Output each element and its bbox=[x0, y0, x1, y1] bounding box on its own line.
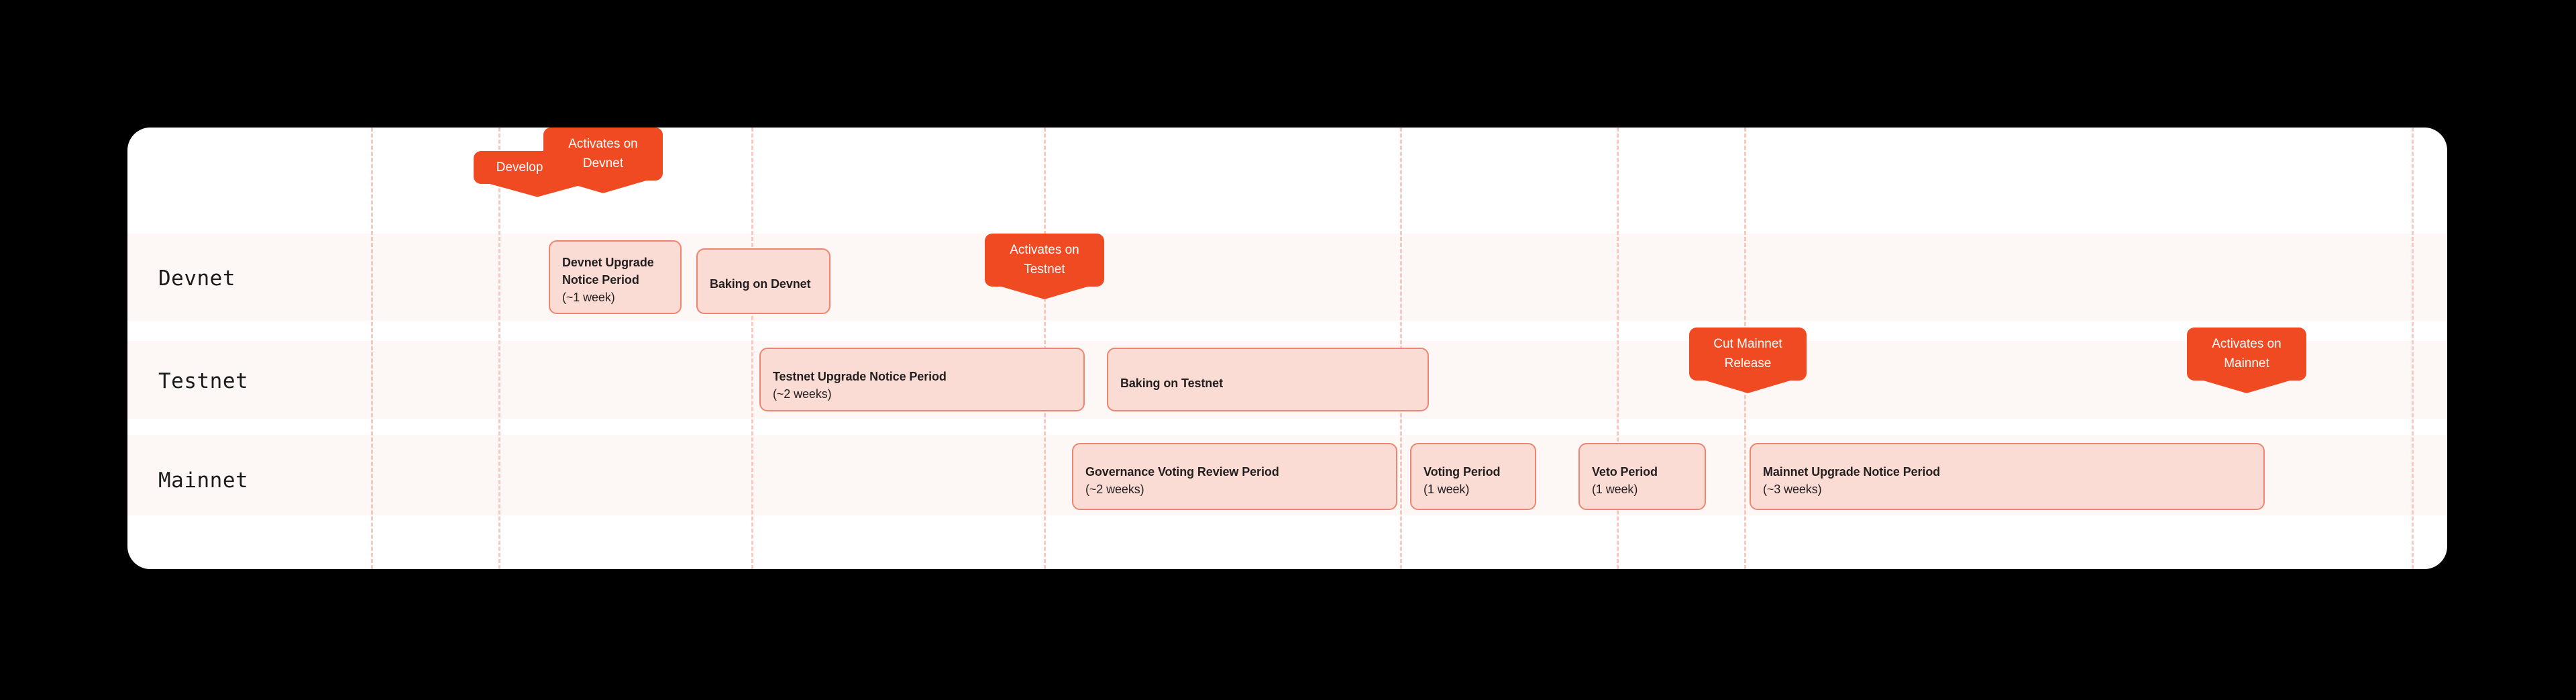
period-box-mainnet-upgrade-notice[interactable]: Mainnet Upgrade Notice Period (~3 weeks) bbox=[1750, 443, 2265, 510]
period-duration: (1 week) bbox=[1592, 481, 1693, 498]
period-box-veto-period[interactable]: Veto Period (1 week) bbox=[1578, 443, 1706, 510]
row-label-devnet: Devnet bbox=[158, 266, 235, 291]
gridline-1 bbox=[371, 128, 373, 569]
period-box-devnet-upgrade-notice[interactable]: Devnet Upgrade Notice Period (~1 week) bbox=[549, 240, 682, 314]
marker-line-1: Activates on bbox=[996, 240, 1093, 260]
period-duration: (~1 week) bbox=[562, 289, 668, 306]
row-label-mainnet: Mainnet bbox=[158, 468, 248, 493]
marker-line-1: Cut Mainnet bbox=[1701, 334, 1795, 354]
row-band-devnet bbox=[127, 234, 2447, 321]
marker-line-1: Activates on bbox=[2198, 334, 2295, 354]
marker-line-2: Mainnet bbox=[2198, 354, 2295, 373]
period-title: Devnet Upgrade Notice Period bbox=[562, 254, 668, 289]
marker-activates-on-testnet[interactable]: Activates on Testnet bbox=[985, 234, 1104, 299]
period-box-baking-on-testnet[interactable]: Baking on Testnet bbox=[1107, 348, 1429, 411]
period-title: Voting Period bbox=[1424, 463, 1523, 481]
marker-line-2: Testnet bbox=[996, 260, 1093, 279]
marker-body: Cut Mainnet Release bbox=[1689, 328, 1807, 381]
period-duration: (1 week) bbox=[1424, 481, 1523, 498]
marker-cut-mainnet-release[interactable]: Cut Mainnet Release bbox=[1689, 328, 1807, 393]
timeline-card: Devnet Testnet Mainnet Devnet Upgrade No… bbox=[127, 128, 2447, 569]
marker-line-2: Release bbox=[1701, 354, 1795, 373]
period-box-testnet-upgrade-notice[interactable]: Testnet Upgrade Notice Period (~2 weeks) bbox=[759, 348, 1085, 411]
period-duration: (~2 weeks) bbox=[1085, 481, 1384, 498]
period-box-governance-voting-review[interactable]: Governance Voting Review Period (~2 week… bbox=[1072, 443, 1397, 510]
period-title: Testnet Upgrade Notice Period bbox=[773, 368, 1071, 385]
marker-line-2: Devnet bbox=[555, 154, 651, 173]
period-duration: (~3 weeks) bbox=[1763, 481, 2251, 498]
marker-body: Activates on Testnet bbox=[985, 234, 1104, 287]
marker-line-1: Activates on bbox=[555, 134, 651, 154]
period-title: Baking on Devnet bbox=[710, 275, 817, 293]
period-title: Mainnet Upgrade Notice Period bbox=[1763, 463, 2251, 481]
gridline-3 bbox=[751, 128, 753, 569]
marker-activates-on-devnet[interactable]: Activates on Devnet bbox=[543, 128, 663, 193]
period-title: Governance Voting Review Period bbox=[1085, 463, 1384, 481]
gridline-8 bbox=[2412, 128, 2414, 569]
period-box-voting-period[interactable]: Voting Period (1 week) bbox=[1410, 443, 1536, 510]
period-title: Baking on Testnet bbox=[1120, 374, 1415, 392]
row-label-testnet: Testnet bbox=[158, 369, 248, 393]
period-duration: (~2 weeks) bbox=[773, 385, 1071, 403]
marker-activates-on-mainnet[interactable]: Activates on Mainnet bbox=[2187, 328, 2306, 393]
period-box-baking-on-devnet[interactable]: Baking on Devnet bbox=[696, 248, 830, 314]
marker-body: Activates on Devnet bbox=[543, 128, 663, 181]
period-title: Veto Period bbox=[1592, 463, 1693, 481]
marker-body: Activates on Mainnet bbox=[2187, 328, 2306, 381]
